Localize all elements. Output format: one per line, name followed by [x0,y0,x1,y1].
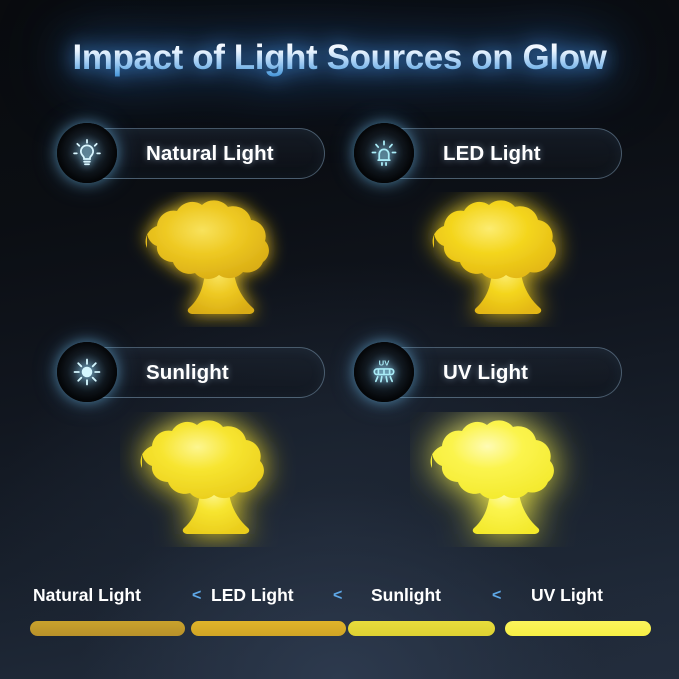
comparison-label-led-light: LED Light [211,585,294,606]
comparison-separator: < [492,587,501,605]
broccoli-natural-light [125,192,315,327]
uv-lamp-icon: UV [354,342,414,402]
infographic-root: Impact of Light Sources on Glow Natural … [0,0,679,679]
comparison-separator: < [192,587,201,605]
comparison-bar-natural-light [30,621,185,636]
broccoli-uv-light [410,412,600,547]
comparison-label-natural-light: Natural Light [33,585,141,606]
card-label-sunlight: Sunlight [58,347,325,398]
broccoli-led-light [412,192,602,327]
led-bulb-icon [354,123,414,183]
comparison-bar-uv-light [505,621,651,636]
comparison-bar-sunlight [348,621,495,636]
broccoli-shape [120,412,310,547]
comparison-bar-led-light [191,621,346,636]
comparison-legend: Natural Light < LED Light < Sunlight < U… [0,585,679,619]
lightbulb-icon [57,123,117,183]
comparison-panel: Natural Light < LED Light < Sunlight < U… [0,575,679,679]
sun-icon [57,342,117,402]
broccoli-shape [412,192,602,327]
broccoli-shape [410,412,600,547]
card-label-text: UV Light [443,361,528,385]
card-label-text: Sunlight [146,361,229,385]
card-label-uv-light: UV UV Light [355,347,622,398]
broccoli-sunlight [120,412,310,547]
comparison-label-sunlight: Sunlight [371,585,441,606]
card-label-text: Natural Light [146,142,274,166]
comparison-separator: < [333,587,342,605]
svg-text:UV: UV [379,359,391,368]
comparison-label-uv-light: UV Light [531,585,603,606]
broccoli-shape [125,192,315,327]
card-label-natural-light: Natural Light [58,128,325,179]
comparison-bars [0,621,679,639]
card-label-text: LED Light [443,142,541,166]
card-label-led-light: LED Light [355,128,622,179]
page-title: Impact of Light Sources on Glow [0,38,679,78]
